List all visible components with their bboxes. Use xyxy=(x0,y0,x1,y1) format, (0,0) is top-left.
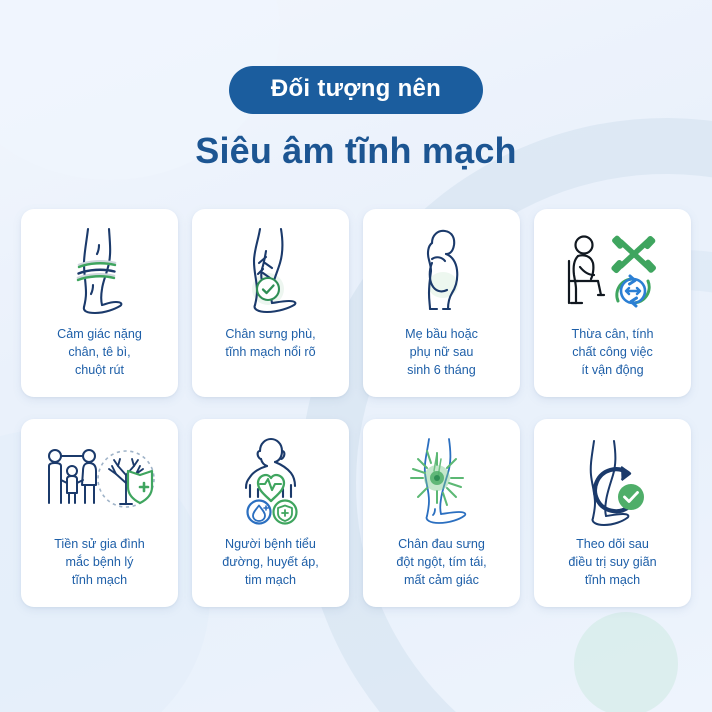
indication-card-grid: Cảm giác nặng chân, tê bì, chuột rút xyxy=(16,171,696,607)
card-label: Thừa cân, tính chất công việc ít vận độn… xyxy=(572,325,654,385)
card-label: Người bệnh tiểu đường, huyết áp, tim mạc… xyxy=(222,535,319,595)
leg-varicose-veins-check-icon xyxy=(228,223,314,319)
card-chronic-disease: Người bệnh tiểu đường, huyết áp, tim mạc… xyxy=(192,419,349,607)
background-green-circle xyxy=(574,612,678,712)
person-heart-pulse-badges-icon xyxy=(225,433,317,529)
card-label: Chân sưng phù, tĩnh mạch nổi rõ xyxy=(225,325,315,385)
leg-refresh-check-icon xyxy=(567,433,659,529)
poster-header: Đối tượng nên Siêu âm tĩnh mạch xyxy=(0,0,712,171)
infographic-poster: Đối tượng nên Siêu âm tĩnh mạch xyxy=(0,0,712,712)
seated-person-dumbbell-cycle-icon xyxy=(558,223,668,319)
card-swollen-leg: Chân sưng phù, tĩnh mạch nổi rõ xyxy=(192,209,349,397)
badge-label: Đối tượng nên xyxy=(229,66,483,114)
card-sedentary: Thừa cân, tính chất công việc ít vận độn… xyxy=(534,209,691,397)
card-family-history: Tiền sử gia đình mắc bệnh lý tĩnh mạch xyxy=(21,419,178,607)
card-label: Chân đau sưng đột ngột, tím tái, mất cảm… xyxy=(396,535,486,595)
card-post-treatment: Theo dõi sau điều trị suy giãn tĩnh mạch xyxy=(534,419,691,607)
leg-compression-bands-icon xyxy=(57,223,143,319)
card-label: Mẹ bầu hoặc phụ nữ sau sinh 6 tháng xyxy=(405,325,478,385)
card-pregnancy: Mẹ bầu hoặc phụ nữ sau sinh 6 tháng xyxy=(363,209,520,397)
card-label: Tiền sử gia đình mắc bệnh lý tĩnh mạch xyxy=(54,535,145,595)
card-heavy-legs: Cảm giác nặng chân, tê bì, chuột rút xyxy=(21,209,178,397)
leg-pain-burst-icon xyxy=(399,433,485,529)
card-acute-pain: Chân đau sưng đột ngột, tím tái, mất cảm… xyxy=(363,419,520,607)
page-title: Siêu âm tĩnh mạch xyxy=(0,130,712,171)
family-tree-shield-icon xyxy=(38,433,162,529)
card-label: Theo dõi sau điều trị suy giãn tĩnh mạch xyxy=(568,535,656,595)
card-label: Cảm giác nặng chân, tê bì, chuột rút xyxy=(57,325,142,385)
pregnant-woman-heart-icon xyxy=(396,223,488,319)
